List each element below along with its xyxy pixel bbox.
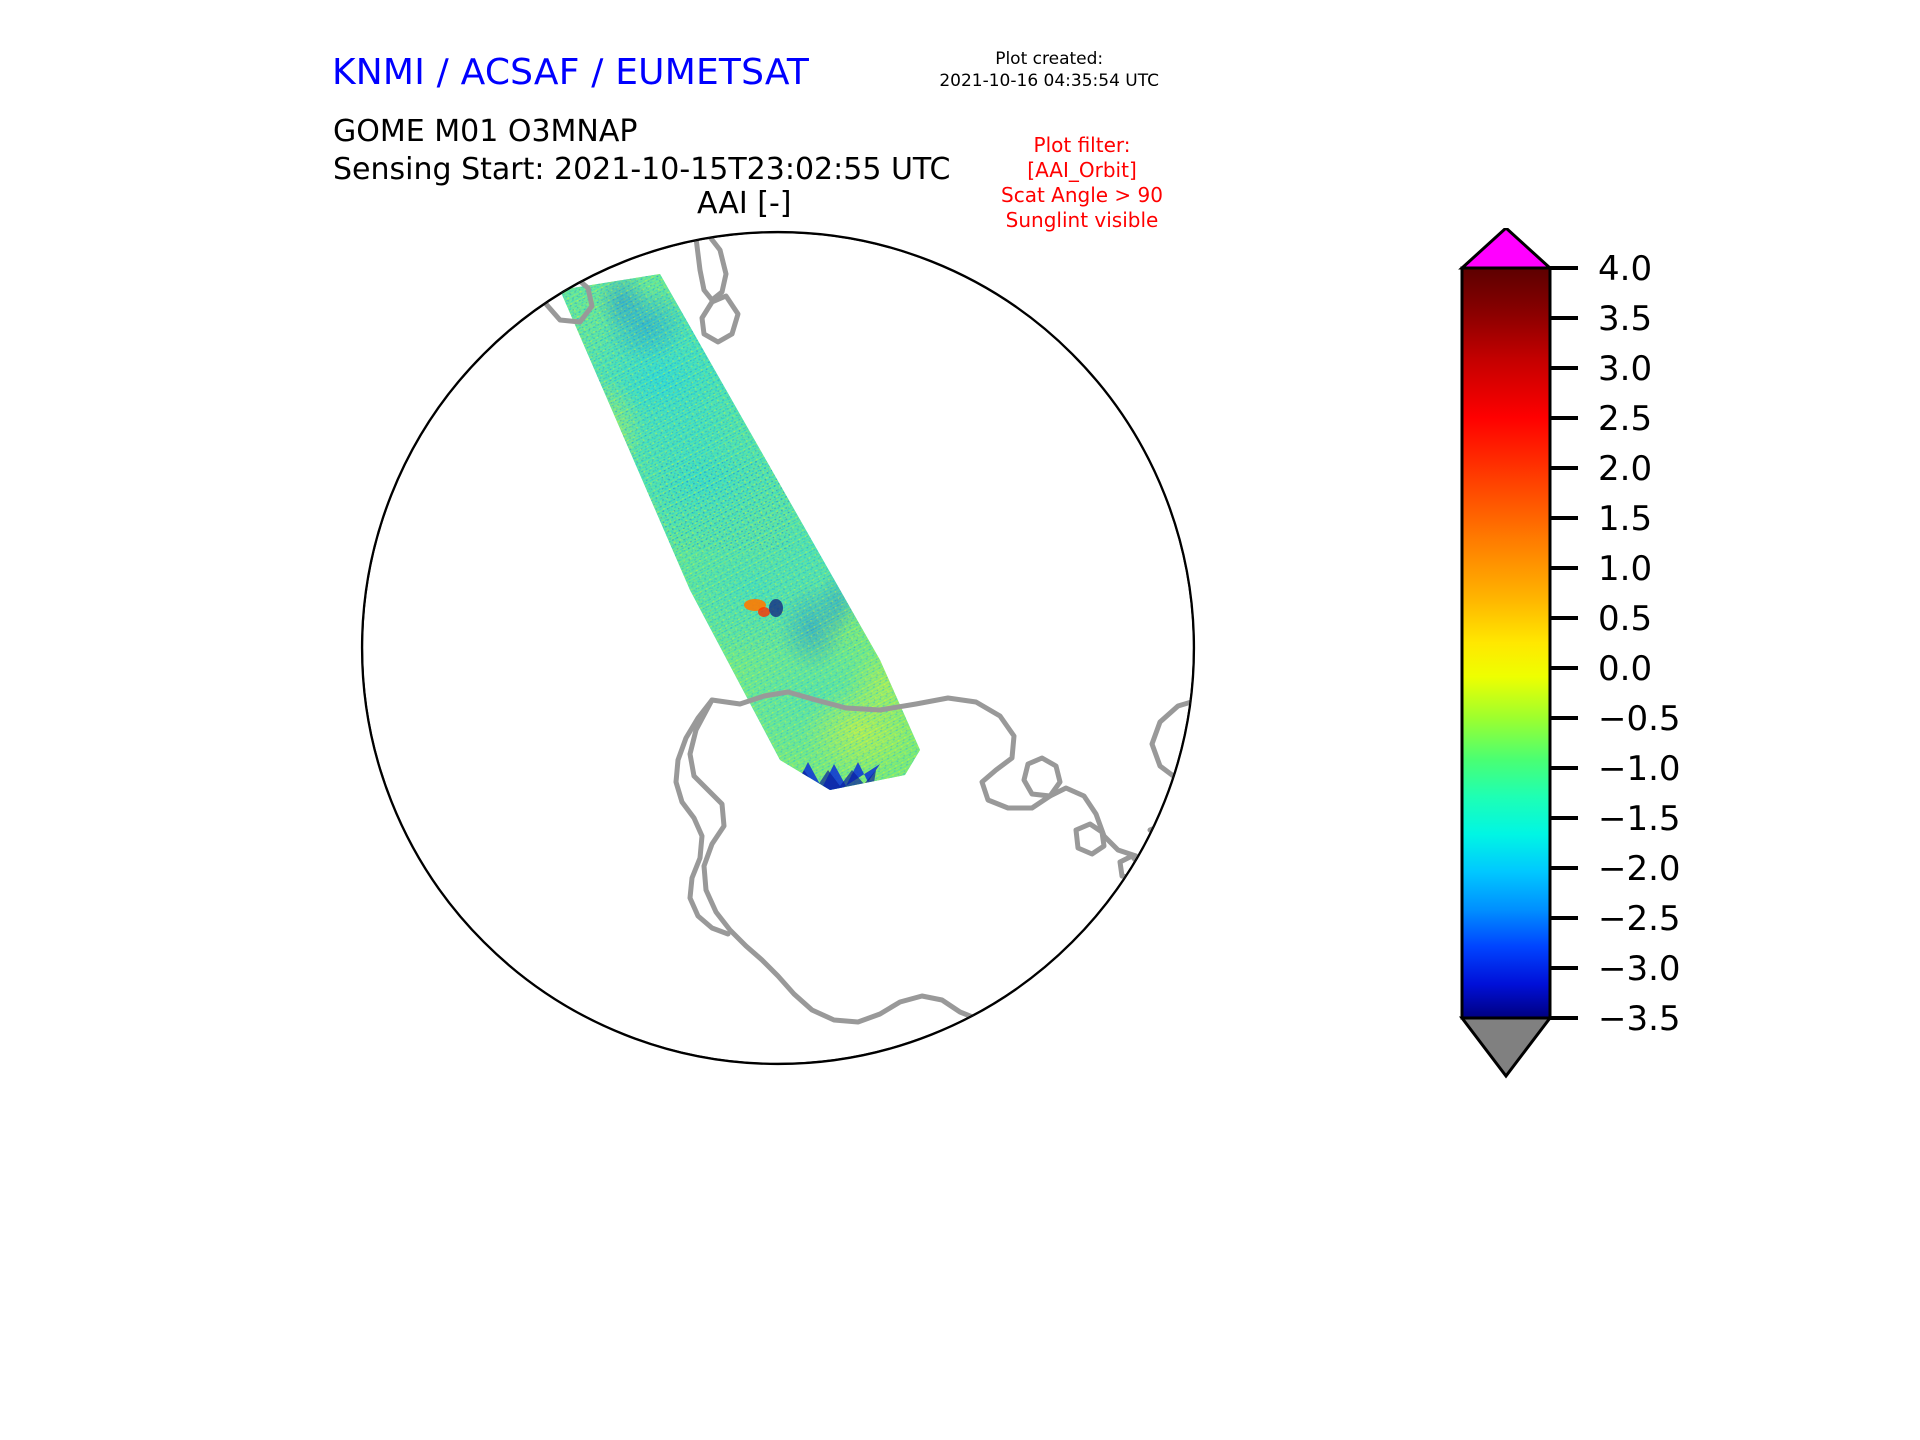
- colorbar-tick-label: 3.0: [1598, 349, 1652, 389]
- colorbar-tick-label: 0.5: [1598, 599, 1652, 639]
- colorbar-tick-label: 2.0: [1598, 449, 1652, 489]
- colorbar-tick-label: 1.0: [1598, 549, 1652, 589]
- colorbar-tick-label: −1.5: [1598, 799, 1681, 839]
- plot-filter-label: Plot filter:: [1001, 133, 1163, 158]
- plot-created-label: Plot created:: [939, 48, 1159, 70]
- plot-filter-block: Plot filter: [AAI_Orbit] Scat Angle > 90…: [1001, 133, 1163, 233]
- colorbar-under-arrow: [1462, 1018, 1550, 1076]
- colorbar-tick-label: 0.0: [1598, 649, 1652, 689]
- colorbar-tick-label: −2.5: [1598, 899, 1681, 939]
- colorbar-tick-label: −2.0: [1598, 849, 1681, 889]
- plot-filter-product: [AAI_Orbit]: [1001, 158, 1163, 183]
- page-title: AAI [-]: [697, 186, 792, 221]
- colorbar-tick-label: −3.0: [1598, 949, 1681, 989]
- colorbar-over-arrow: [1462, 228, 1550, 268]
- colorbar-tick-label: 1.5: [1598, 499, 1652, 539]
- colorbar-tick-label: −3.5: [1598, 999, 1681, 1039]
- product-name: GOME M01 O3MNAP: [333, 113, 950, 151]
- coastline-south-georgia: [422, 1014, 442, 1036]
- colorbar: 4.03.53.02.52.01.51.00.50.0−0.5−1.0−1.5−…: [1448, 228, 1808, 1108]
- polar-map: [360, 230, 1198, 1068]
- colorbar-tick-label: −1.0: [1598, 749, 1681, 789]
- colorbar-gradient: [1462, 268, 1550, 1018]
- colorbar-panel: 4.03.53.02.52.01.51.00.50.0−0.5−1.0−1.5−…: [1448, 228, 1808, 1108]
- coastline-island-edge: [508, 266, 546, 292]
- plot-filter-scat-angle: Scat Angle > 90: [1001, 183, 1163, 208]
- colorbar-ticks: 4.03.53.02.52.01.51.00.50.0−0.5−1.0−1.5−…: [1550, 249, 1681, 1039]
- colorbar-tick-label: 2.5: [1598, 399, 1652, 439]
- map-panel: [360, 230, 1198, 1068]
- plot-created-value: 2021-10-16 04:35:54 UTC: [939, 70, 1159, 92]
- colorbar-tick-label: 4.0: [1598, 249, 1652, 289]
- brand-title: KNMI / ACSAF / EUMETSAT: [332, 52, 809, 93]
- colorbar-tick-label: −0.5: [1598, 699, 1681, 739]
- sensing-start: Sensing Start: 2021-10-15T23:02:55 UTC: [333, 151, 950, 189]
- product-info-block: GOME M01 O3MNAP Sensing Start: 2021-10-1…: [333, 113, 950, 189]
- plot-created-block: Plot created: 2021-10-16 04:35:54 UTC: [939, 48, 1159, 92]
- colorbar-tick-label: 3.5: [1598, 299, 1652, 339]
